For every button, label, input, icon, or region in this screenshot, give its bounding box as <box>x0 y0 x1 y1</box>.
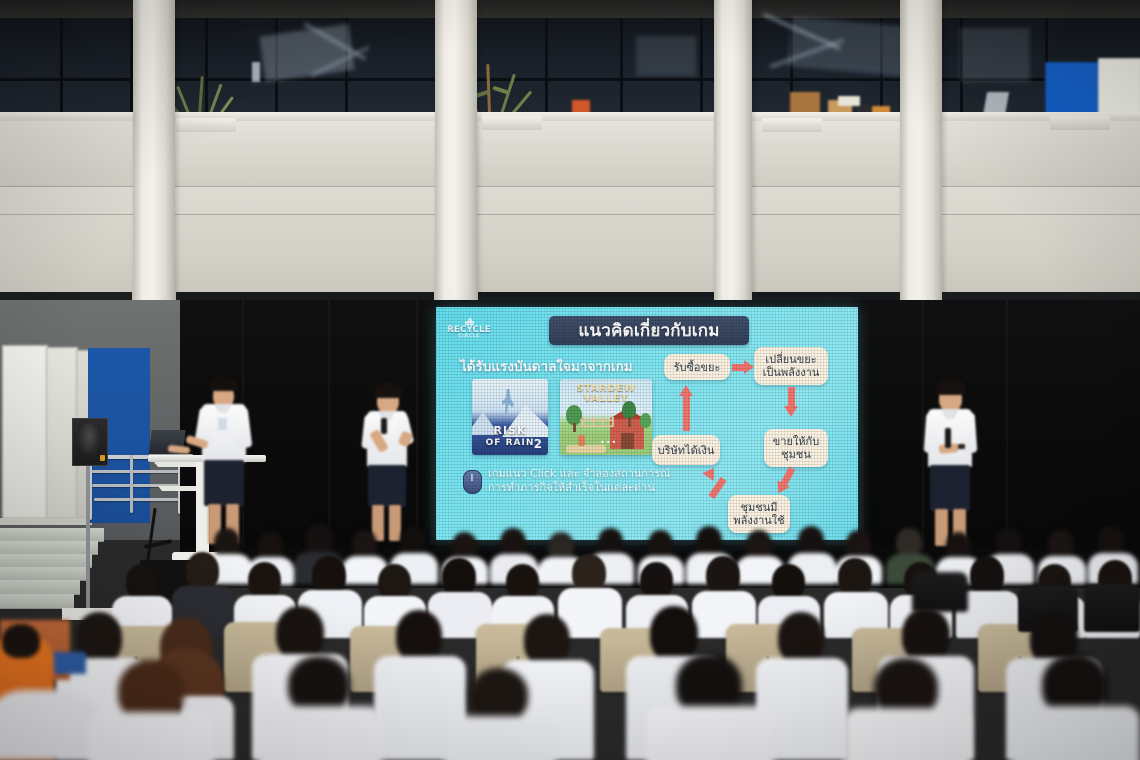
slide-subheading: ได้รับแรงบันดาลใจมาจากเกม <box>460 355 633 377</box>
fence-post <box>582 417 584 426</box>
fence-rail <box>580 425 614 427</box>
flow-node-label-line1: ขายให้กับ <box>773 435 819 448</box>
flow-arrow-2 <box>788 387 795 407</box>
potted-plant <box>176 70 228 118</box>
fence-rail <box>580 419 614 421</box>
game-cover-risk-of-rain: RISK OF RAIN 2 <box>472 379 548 455</box>
speaker-badge <box>100 455 105 461</box>
hair-front <box>375 386 402 398</box>
barn-door <box>621 433 634 449</box>
flow-node-sell-community: ขายให้กับ ชุมชน <box>764 429 828 467</box>
concrete-column <box>133 0 175 330</box>
shirt-pocket-badge <box>218 418 227 430</box>
white-board-panel <box>1098 58 1140 120</box>
flow-node-company-profit: บริษัทได้เงิน <box>652 435 720 465</box>
handrail <box>94 498 180 501</box>
tree <box>640 413 651 428</box>
flow-arrow-1-head <box>744 360 754 374</box>
uniform-shorts <box>204 460 244 506</box>
display-partition <box>2 345 48 519</box>
tree <box>566 405 582 425</box>
logo-sub-text: CIRCLE <box>458 334 480 339</box>
game-title-line2: VALLEY <box>583 393 628 404</box>
flow-node-label: บริษัทได้เงิน <box>658 444 715 457</box>
game-title-stardew: STARDEW VALLEY <box>560 384 652 404</box>
concrete-column <box>435 0 477 330</box>
concrete-column <box>714 0 752 330</box>
slide-bullet-text: เกมแนว Click และ จำลองสถานการณ์ การทำภาร… <box>488 467 670 495</box>
led-video-wall: RECYCLE CIRCLE แนวคิดเกี่ยวกับเกม ได้รับ… <box>436 307 858 540</box>
bullet-line-1: เกมแนว Click และ จำลองสถานการณ์ <box>488 467 670 480</box>
game-character-silhouette <box>502 389 514 415</box>
hud-dots: ••• <box>600 438 617 447</box>
fence-post <box>602 417 604 426</box>
audience-row-frontmost <box>0 660 1140 760</box>
slide-title: แนวคิดเกี่ยวกับเกม <box>578 317 719 344</box>
rail-post <box>130 455 133 513</box>
slide-title-banner: แนวคิดเกี่ยวกับเกม <box>549 316 749 345</box>
computer-mouse-icon <box>463 470 482 494</box>
photo-scene: RECYCLE CIRCLE แนวคิดเกี่ยวกับเกม ได้รับ… <box>0 0 1140 760</box>
logo-brand-text: RECYCLE <box>447 326 491 334</box>
recycle-mark-icon <box>464 317 475 326</box>
game-title-risk: RISK <box>493 424 526 437</box>
game-title-edition: 2 <box>534 437 542 451</box>
building-facade <box>0 0 1140 330</box>
flow-node-buy-waste: รับซื้อขยะ <box>664 354 730 380</box>
flow-node-label-line1: เปลี่ยนขยะ <box>765 353 816 366</box>
flow-arrow-5-head <box>679 385 693 396</box>
flow-arrow-2-head <box>784 406 798 417</box>
fence-post <box>612 417 614 426</box>
flow-node-label: รับซื้อขยะ <box>674 361 721 374</box>
fence-post <box>592 417 594 426</box>
presentation-slide: RECYCLE CIRCLE แนวคิดเกี่ยวกับเกม ได้รับ… <box>436 307 858 540</box>
cardboard-box <box>790 92 820 114</box>
flow-arrow-4-head <box>702 464 720 481</box>
flow-node-label-line2: ชุมชน <box>781 448 811 461</box>
flow-arrow-4 <box>708 477 726 499</box>
flow-node-label-line2: เป็นพลังงาน <box>763 366 820 379</box>
wristwatch <box>958 444 965 449</box>
concrete-column <box>900 0 942 330</box>
game-cover-stardew-valley: STARDEW VALLEY ••• <box>560 379 652 455</box>
game-character <box>578 435 585 446</box>
hair-front <box>937 383 965 395</box>
tree-trunk <box>628 417 631 427</box>
microphone <box>381 418 387 434</box>
game-title-ofrain: OF RAIN <box>486 438 535 448</box>
flow-node-convert-energy: เปลี่ยนขยะ เป็นพลังงาน <box>754 347 828 385</box>
flow-arrow-5 <box>683 395 690 431</box>
tree-trunk <box>573 423 576 432</box>
handrail <box>90 470 184 473</box>
speaker-cone <box>78 424 100 454</box>
white-label <box>838 96 860 106</box>
microphone <box>945 428 951 448</box>
hair-top <box>212 378 238 391</box>
arm-right <box>232 407 253 449</box>
audience-head <box>2 624 40 658</box>
recycle-logo-icon: RECYCLE CIRCLE <box>448 315 490 341</box>
bullet-line-2: การทำภารกิจให้สำเร็จในแต่ละด่าน <box>488 481 655 494</box>
uniform-shorts <box>930 465 970 511</box>
uniform-shorts <box>368 465 406 507</box>
